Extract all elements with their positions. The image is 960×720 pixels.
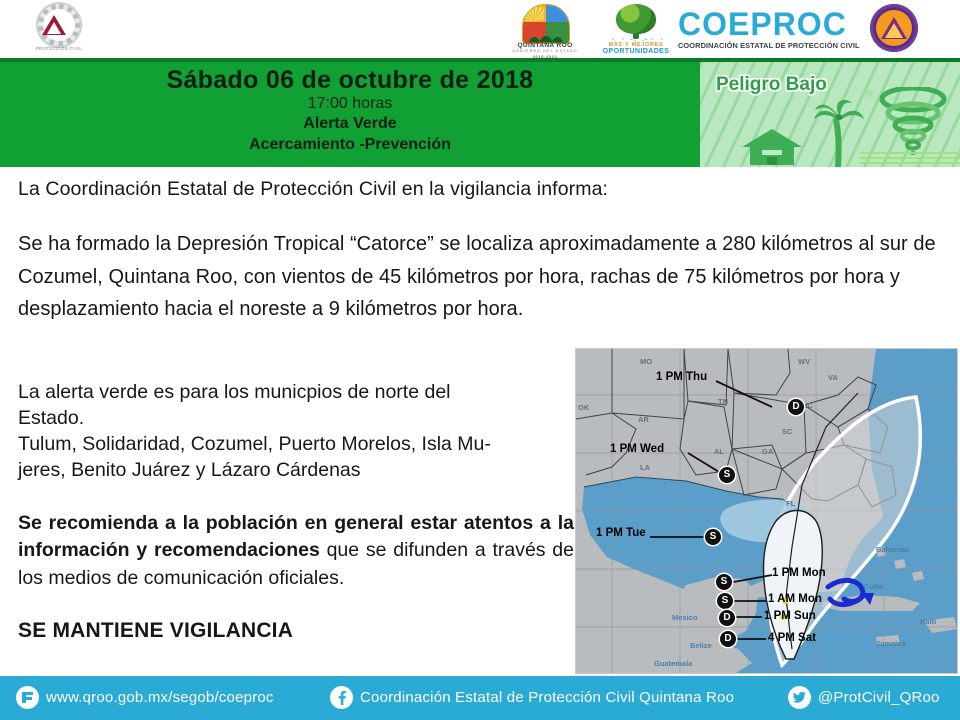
facebook-icon [330,686,353,709]
sea-waves-icon [860,149,960,167]
coeproc-tagline: COORDINACIÓN ESTATAL DE PROTECCIÓN CIVIL [678,41,858,50]
infographic-page: PROTECCIÓN CIVIL QUINTANA ROO GOBIERNO D… [0,0,960,720]
footer-twitter-label: @ProtCivil_QRoo [818,689,940,706]
alert-banner: Sábado 06 de octubre de 2018 17:00 horas… [0,62,960,167]
geo-label-tn: TN [718,397,728,406]
geo-label-wv: WV [798,357,810,366]
geo-label-la: LA [640,463,650,472]
palm-tree-icon [812,97,866,167]
municipios-line2: jeres, Benito Juárez y Lázaro Cárdenas [18,458,574,484]
alert-action: Acercamiento -Prevención [0,135,700,156]
alert-banner-text: Sábado 06 de octubre de 2018 17:00 horas… [0,62,700,167]
alert-level: Alerta Verde [0,114,700,135]
vigilancia-heading: SE MANTIENE VIGILANCIA [18,619,574,643]
geo-label-ok: OK [578,403,589,412]
forecast-marker-sat: D [720,631,736,647]
geo-label-va: VA [828,373,838,382]
geo-label-belize: Belize [690,641,712,650]
geo-label-guatemala: Guatemala [654,659,692,668]
forecast-marker-wed: S [719,467,735,483]
main-body-text: La Coordinación Estatal de Protección Ci… [18,176,948,325]
triangle-inner-icon [47,22,61,34]
geo-label-mo: MO [640,357,652,366]
geo-label-ga: GA [762,447,773,456]
forecast-marker-thu: D [788,399,804,415]
alert-time: 17:00 horas [0,94,700,114]
footer-facebook[interactable]: Coordinación Estatal de Protección Civil… [330,686,734,709]
danger-level-label: Peligro Bajo [716,74,827,96]
geo-label-bahamas: Bahamas [876,545,909,554]
main-paragraph: Se ha formado la Depresión Tropical “Cat… [18,228,948,325]
proteccion-civil-badge [868,4,920,56]
proteccion-civil-logo-caption: PROTECCIÓN CIVIL [20,46,98,52]
hurricane-forecast-cone-map: D S S S S D D 1 PM Thu 1 PM Wed 1 PM Tue… [575,348,958,674]
footer-twitter[interactable]: @ProtCivil_QRoo [788,686,940,709]
forecast-label-pm-mon: 1 PM Mon [772,567,826,579]
quintana-roo-logo-subtitle: GOBIERNO DEL ESTADO [508,49,582,53]
forecast-label-sun: 1 PM Sun [764,610,816,622]
alert-date: Sábado 06 de octubre de 2018 [0,66,700,94]
geo-label-mexico: Mexico [672,613,697,622]
geo-label-al: AL [714,447,724,456]
twitter-icon [788,686,811,709]
forecast-label-tue: 1 PM Tue [596,527,646,539]
triangle-badge-inner-icon [885,23,903,38]
geo-label-fl: FL [786,499,795,508]
left-column-text: La alerta verde es para los municpios de… [18,380,574,643]
forecast-label-wed: 1 PM Wed [610,443,664,455]
header-logo-bar: PROTECCIÓN CIVIL QUINTANA ROO GOBIERNO D… [0,0,960,58]
web-icon [16,686,39,709]
forecast-marker-sun: D [719,610,735,626]
geo-label-cuba: Cuba [864,582,883,591]
geo-label-haiti: Haiti [920,617,936,626]
geo-label-ar: AR [638,415,649,424]
footer-website-label: www.qroo.gob.mx/segob/coeproc [46,689,274,706]
footer-facebook-label: Coordinación Estatal de Protección Civil… [360,689,734,706]
alerta-paragraph-line2: Estado. [18,406,574,432]
mas-y-mejores-oportunidades-logo: MÁS Y MEJORES OPORTUNIDADES [600,4,672,56]
recomendacion-paragraph: Se recomienda a la población en general … [18,510,574,593]
forecast-marker-am-mon: S [717,593,733,609]
forecast-marker-tue: S [705,529,721,545]
intro-paragraph: La Coordinación Estatal de Protección Ci… [18,176,948,202]
oportunidades-line2: OPORTUNIDADES [600,48,672,55]
alerta-paragraph-line1: La alerta verde es para los municpios de… [18,380,574,406]
proteccion-civil-logo: PROTECCIÓN CIVIL [20,2,98,58]
forecast-label-sat: 4 PM Sat [768,632,816,644]
municipios-line1: Tulum, Solidaridad, Cozumel, Puerto More… [18,432,574,458]
forecast-label-am-mon: 1 AM Mon [768,593,822,605]
geo-label-sc: SC [782,427,792,436]
coeproc-wordmark: COEPROC [678,8,858,40]
quintana-roo-logo: QUINTANA ROO GOBIERNO DEL ESTADO 2016-20… [508,4,582,56]
tree-icon [616,4,656,34]
forecast-marker-pm-mon: S [716,574,732,590]
footer-bar: www.qroo.gob.mx/segob/coeproc Coordinaci… [0,676,960,720]
map-graphic [576,349,957,673]
forecast-label-thu: 1 PM Thu [656,371,707,383]
coeproc-logo: COEPROC COORDINACIÓN ESTATAL DE PROTECCI… [678,8,858,52]
geo-label-jamaica: Jamaica [876,639,906,648]
danger-level-panel: Peligro Bajo [700,62,960,167]
house-icon [742,129,802,165]
footer-website[interactable]: www.qroo.gob.mx/segob/coeproc [16,686,274,709]
quintana-roo-shield-icon [522,4,570,44]
